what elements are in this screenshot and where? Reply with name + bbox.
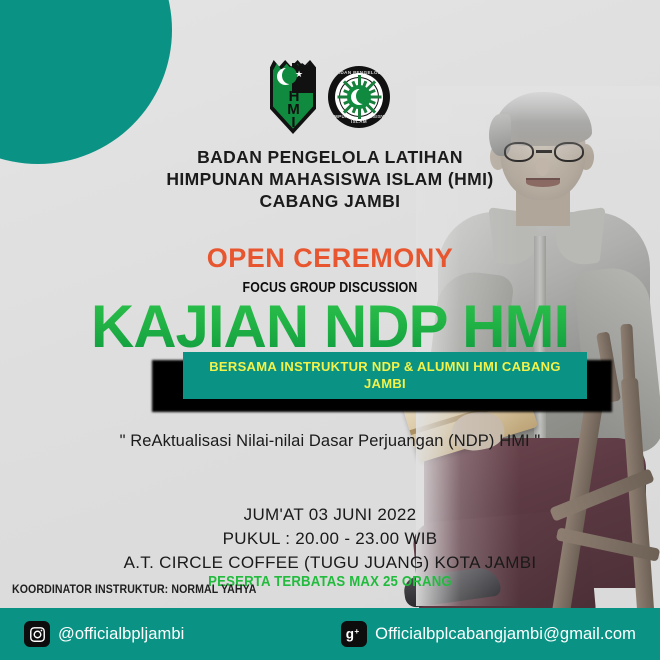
open-ceremony-heading: OPEN CEREMONY <box>0 243 660 274</box>
theme-quote: " ReAktualisasi Nilai-nilai Dasar Perjua… <box>0 432 660 451</box>
poster-canvas: ★ H M I BADAN PENGELOLA LATIHAN HIMPUNAN… <box>0 0 660 660</box>
event-date: JUM'AT 03 JUNI 2022 <box>0 503 660 527</box>
organization-heading: BADAN PENGELOLA LATIHAN HIMPUNAN MAHASIS… <box>0 146 660 212</box>
event-venue: A.T. CIRCLE COFFEE (TUGU JUANG) KOTA JAM… <box>0 551 660 575</box>
svg-text:+: + <box>355 627 360 636</box>
footer-bar: @officialbpljambi g + Officialbplcabangj… <box>0 608 660 660</box>
speakers-banner: BERSAMA INSTRUKTUR NDP & ALUMNI HMI CABA… <box>183 352 587 399</box>
logo-row: ★ H M I BADAN PENGELOLA LATIHAN HIMPUNAN… <box>0 60 660 134</box>
org-line-2: HIMPUNAN MAHASISWA ISLAM (HMI) <box>0 168 660 190</box>
seal-center <box>347 85 371 109</box>
event-details: JUM'AT 03 JUNI 2022 PUKUL : 20.00 - 23.0… <box>0 503 660 575</box>
star-icon: ★ <box>295 70 303 79</box>
hmi-shield-icon: ★ H M I <box>270 60 316 134</box>
coordinator-label: KOORDINATOR INSTRUKTUR: NORMAL YAHYA <box>12 584 257 596</box>
page-title: KAJIAN NDP HMI <box>0 295 660 359</box>
svg-text:g: g <box>346 627 354 642</box>
crescent-icon <box>277 68 294 85</box>
email-address[interactable]: Officialbplcabangjambi@gmail.com <box>375 625 636 644</box>
banner-line-1: BERSAMA INSTRUKTUR NDP & ALUMNI HMI CABA… <box>191 358 579 375</box>
event-time: PUKUL : 20.00 - 23.00 WIB <box>0 527 660 551</box>
instagram-icon[interactable] <box>24 621 50 647</box>
banner-line-2: JAMBI <box>191 375 579 392</box>
instagram-handle[interactable]: @officialbpljambi <box>58 625 184 644</box>
org-line-3: CABANG JAMBI <box>0 190 660 212</box>
hmi-letter-i: I <box>270 116 316 129</box>
bpl-seal-icon: BADAN PENGELOLA LATIHAN HIMPUNAN MAHASIS… <box>328 66 390 128</box>
instagram-contact[interactable]: @officialbpljambi <box>24 621 184 647</box>
crescent-icon <box>351 89 367 105</box>
google-plus-icon[interactable]: g + <box>341 621 367 647</box>
email-contact[interactable]: g + Officialbplcabangjambi@gmail.com <box>341 621 636 647</box>
org-line-1: BADAN PENGELOLA LATIHAN <box>0 146 660 168</box>
